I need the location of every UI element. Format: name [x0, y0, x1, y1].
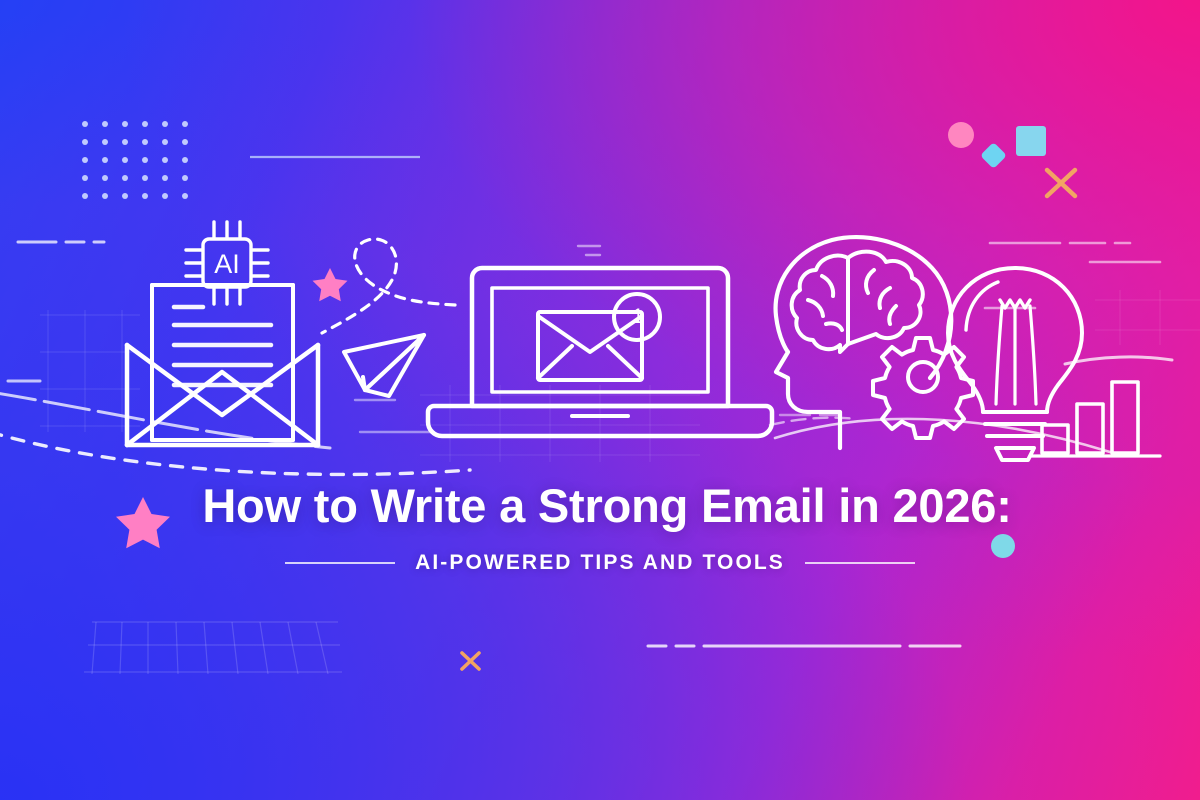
star-small-pink [313, 268, 348, 301]
star-layer [0, 0, 1200, 800]
email-article-banner: AI 1 [0, 0, 1200, 800]
laptop-body [428, 268, 772, 436]
ai-chip-label: AI [214, 249, 240, 279]
grid-bottom-left [84, 622, 342, 674]
paper-plane-icon [344, 335, 424, 396]
envelope-body [127, 345, 318, 445]
page-title: How to Write a Strong Email in 2026: [0, 480, 1200, 532]
curve-sweep-dashed [0, 432, 470, 474]
dash-marks-upper-right [985, 243, 1160, 308]
grid-right [1095, 290, 1200, 345]
notification-badge-count: 1 [626, 304, 650, 330]
ai-chip-icon [186, 222, 268, 304]
curve-sweep-solid [0, 392, 330, 448]
subtitle-row: AI-POWERED TIPS AND TOOLS [0, 551, 1200, 575]
dot-grid-top-left [0, 0, 1200, 800]
subtitle-rule-right [805, 562, 915, 564]
decor-diamond-cyan [980, 142, 1007, 169]
letter-sheet [152, 285, 293, 440]
lightbulb-icon [948, 268, 1082, 460]
letter-text-lines [174, 307, 271, 385]
x-mark-bottom [462, 653, 479, 669]
dash-marks-left-lower [355, 400, 430, 432]
dashed-loop-trail [322, 239, 455, 333]
subtitle-rule-left [285, 562, 395, 564]
grid-center [420, 385, 700, 462]
background-decor-layer [0, 0, 1200, 800]
gear-icon [873, 338, 973, 438]
decor-circle-pink [948, 122, 974, 148]
ai-thinking-illustration [0, 0, 1200, 800]
title-block: How to Write a Strong Email in 2026: AI-… [0, 480, 1200, 575]
page-subtitle: AI-POWERED TIPS AND TOOLS [415, 551, 785, 575]
human-head-icon [776, 237, 952, 448]
bar-chart-icon [1030, 357, 1172, 456]
brain-icon [792, 252, 923, 352]
decor-square-cyan [1016, 126, 1046, 156]
ground-curve-dash [770, 418, 856, 425]
ground-curve [775, 419, 1110, 452]
grid-left [40, 310, 140, 432]
x-mark-top-right [1047, 170, 1075, 196]
tick-marks-above-laptop [578, 246, 600, 255]
x-mark-layer [0, 0, 1200, 800]
envelope-email-illustration: AI [0, 0, 1200, 800]
laptop-illustration [0, 0, 1200, 800]
